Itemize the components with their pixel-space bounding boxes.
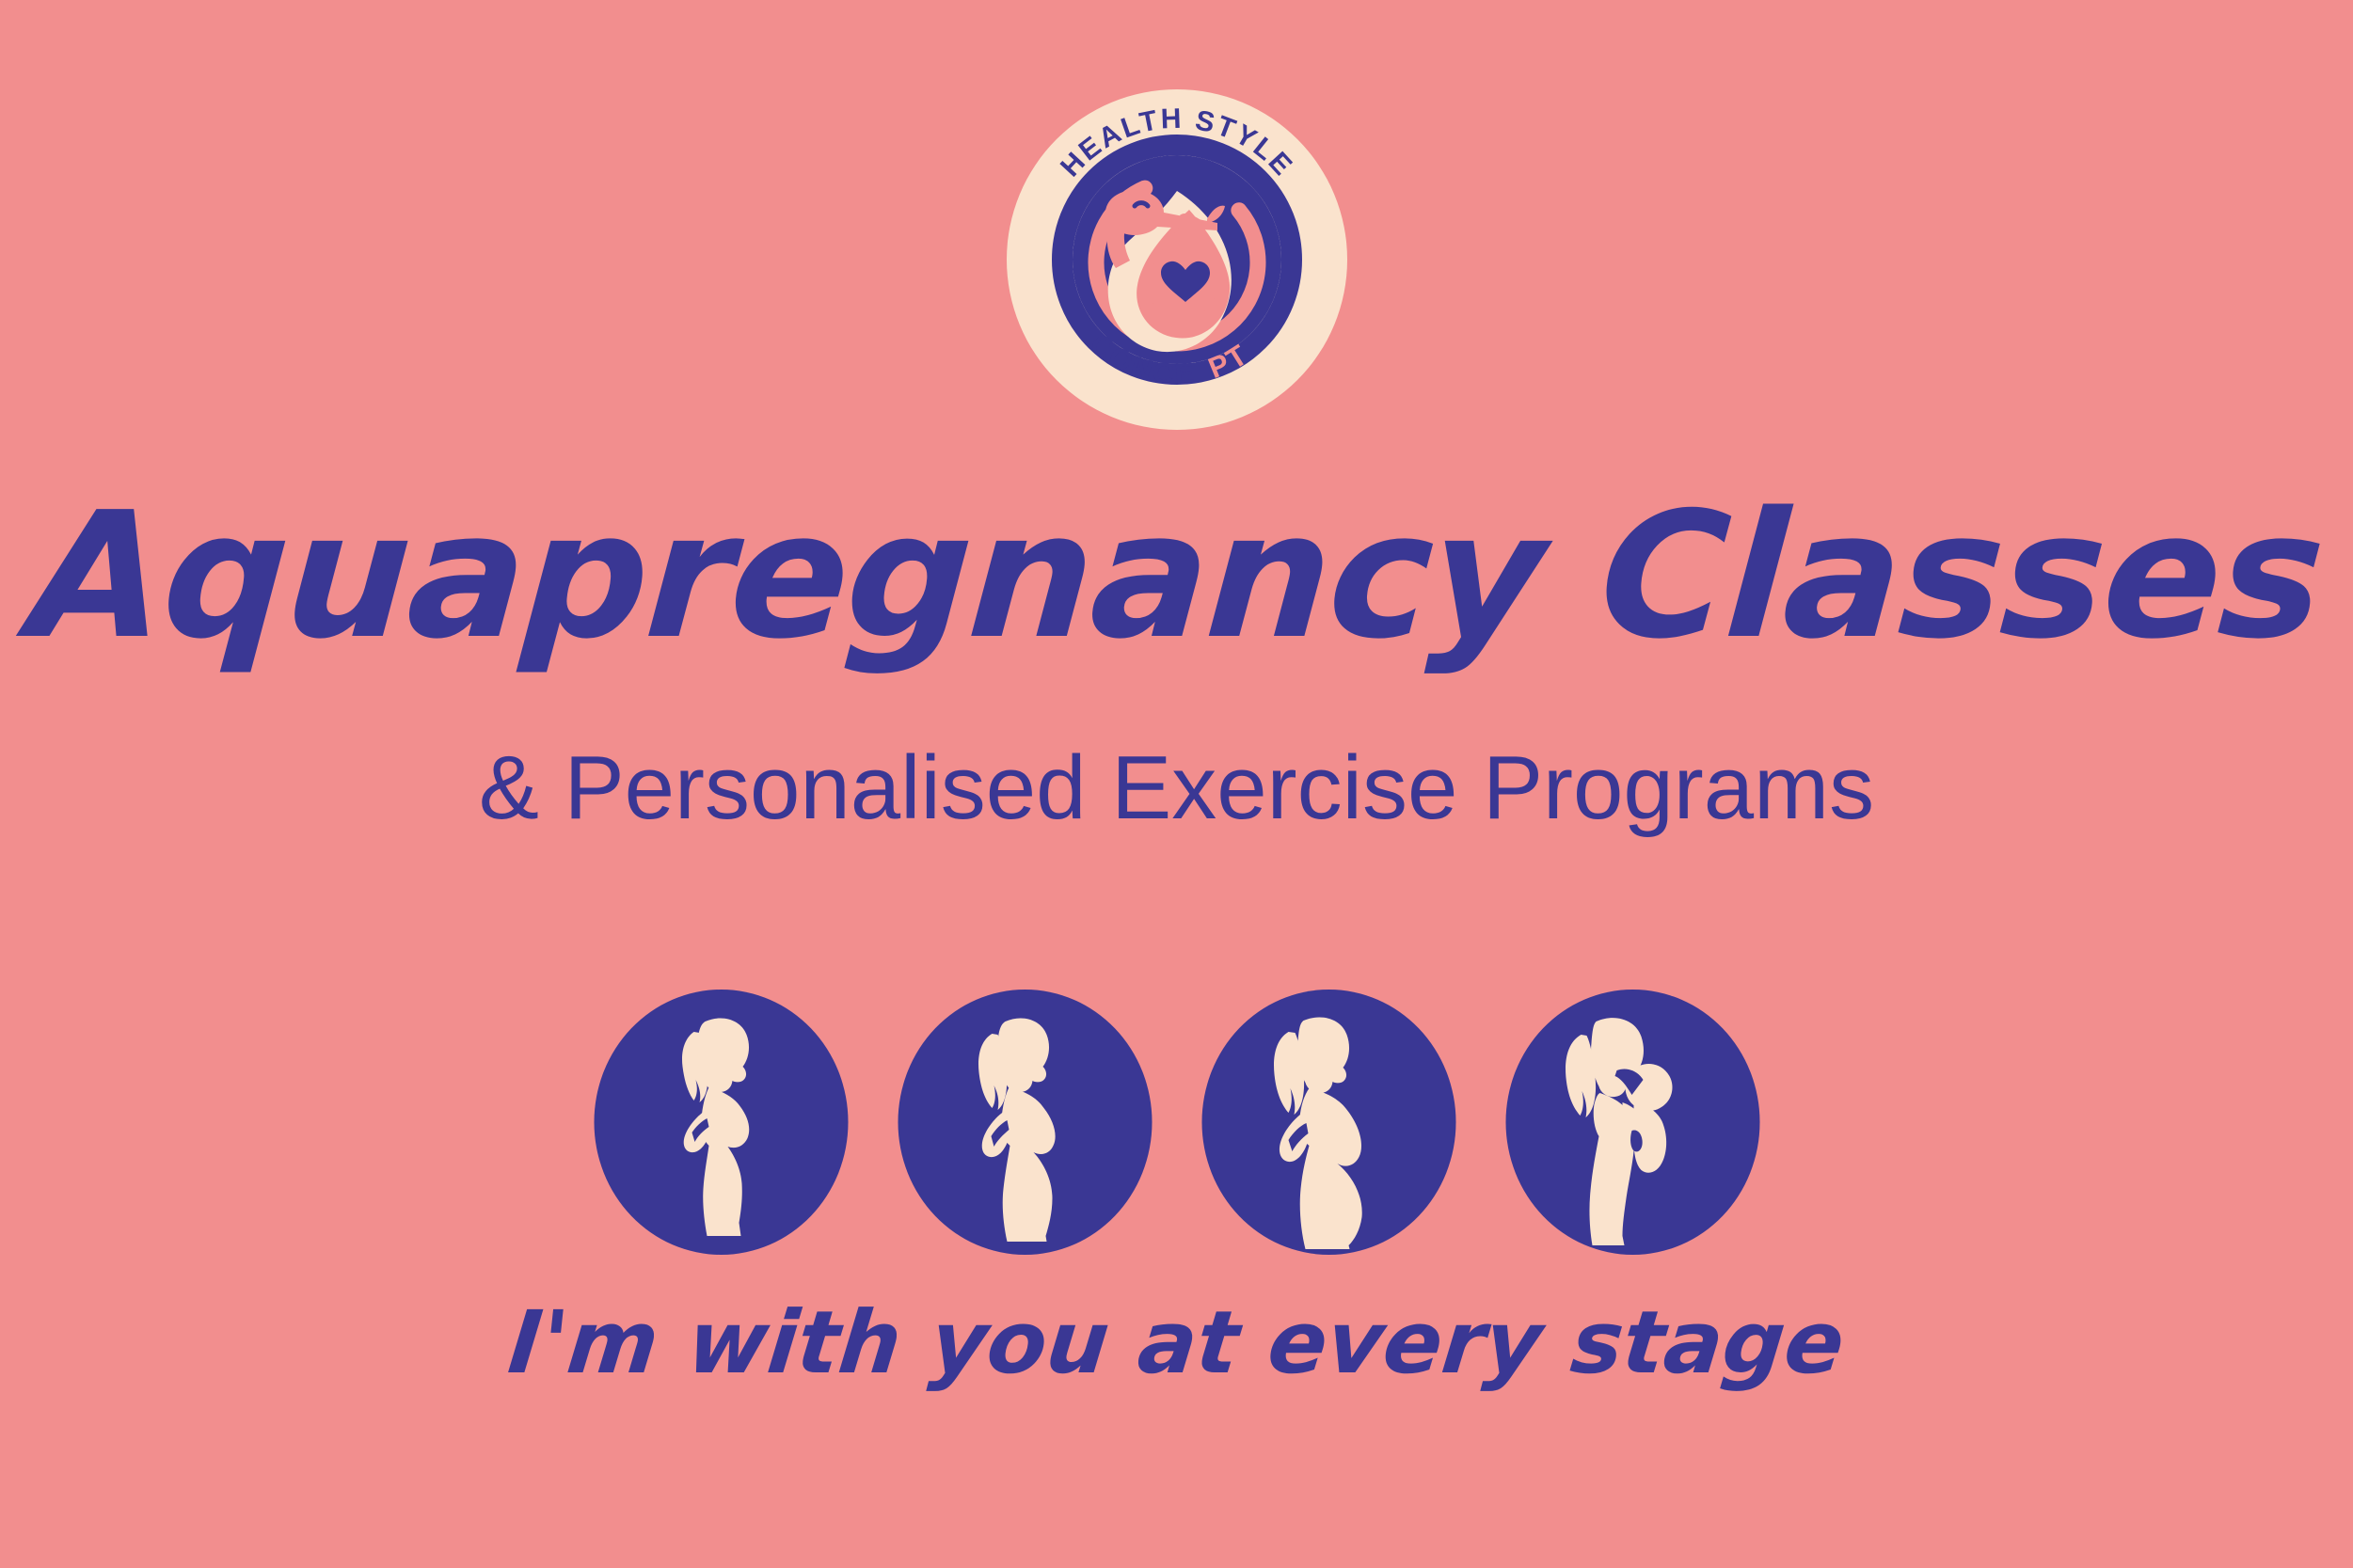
stage-icon-2 xyxy=(898,990,1152,1256)
stage-icon-1 xyxy=(594,990,848,1256)
stage-icon-4 xyxy=(1505,990,1759,1256)
page-title: Aquapregnancy Classes xyxy=(0,489,2353,663)
stage-icon-3 xyxy=(1201,990,1455,1256)
brand-logo: HEALTH STYLE CONCE PT xyxy=(1007,89,1347,430)
poster-canvas: HEALTH STYLE CONCE PT Aquapregnancy Clas… xyxy=(0,0,2353,1568)
page-subtitle: & Personalised Exercise Programs xyxy=(0,743,2353,833)
tagline: I'm with you at every stage xyxy=(0,1300,2353,1386)
pregnancy-stage-icons xyxy=(594,990,1759,1256)
